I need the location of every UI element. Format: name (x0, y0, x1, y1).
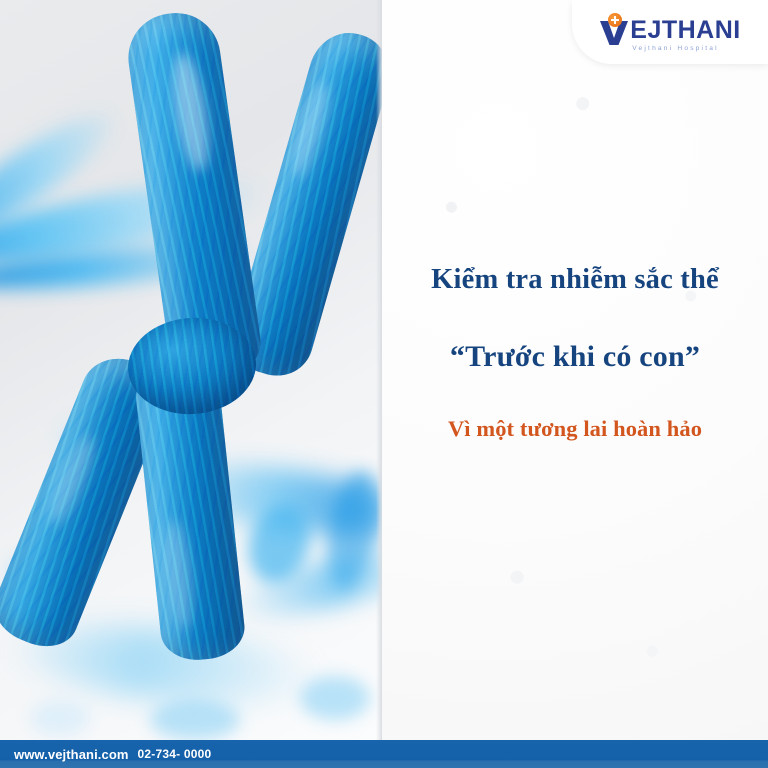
footer-phone-number[interactable]: 02-734- 0000 (138, 747, 212, 761)
headline-block: Kiểm tra nhiễm sắc thể “Trước khi có con… (382, 262, 768, 443)
cross-badge-icon (608, 13, 622, 27)
medical-cross-circle-icon (599, 13, 629, 45)
chromosome-photo-panel (0, 0, 382, 740)
footer-website-link[interactable]: www.vejthani.com (14, 747, 129, 762)
logo-tagline: Vejthani Hospital (632, 46, 740, 53)
headline-primary: Kiểm tra nhiễm sắc thể (382, 262, 768, 298)
footer-bar: www.vejthani.com 02-734- 0000 (0, 740, 768, 768)
headline-tagline: Vì một tương lai hoàn hảo (382, 415, 768, 443)
logo-wordmark: EJTHANI Vejthani Hospital (630, 13, 740, 53)
panel-divider (376, 0, 382, 740)
dna-bokeh-blob (30, 700, 90, 736)
logo-lockup: EJTHANI Vejthani Hospital (599, 13, 740, 53)
brand-logo-banner[interactable]: EJTHANI Vejthani Hospital (572, 0, 768, 64)
promo-poster: EJTHANI Vejthani Hospital Kiểm tra nhiễm… (0, 0, 768, 768)
dna-bokeh-blob (150, 700, 240, 740)
logo-name: EJTHANI (630, 18, 740, 43)
headline-quote: “Trước khi có con” (382, 338, 768, 376)
dna-bokeh-blob (300, 676, 370, 720)
